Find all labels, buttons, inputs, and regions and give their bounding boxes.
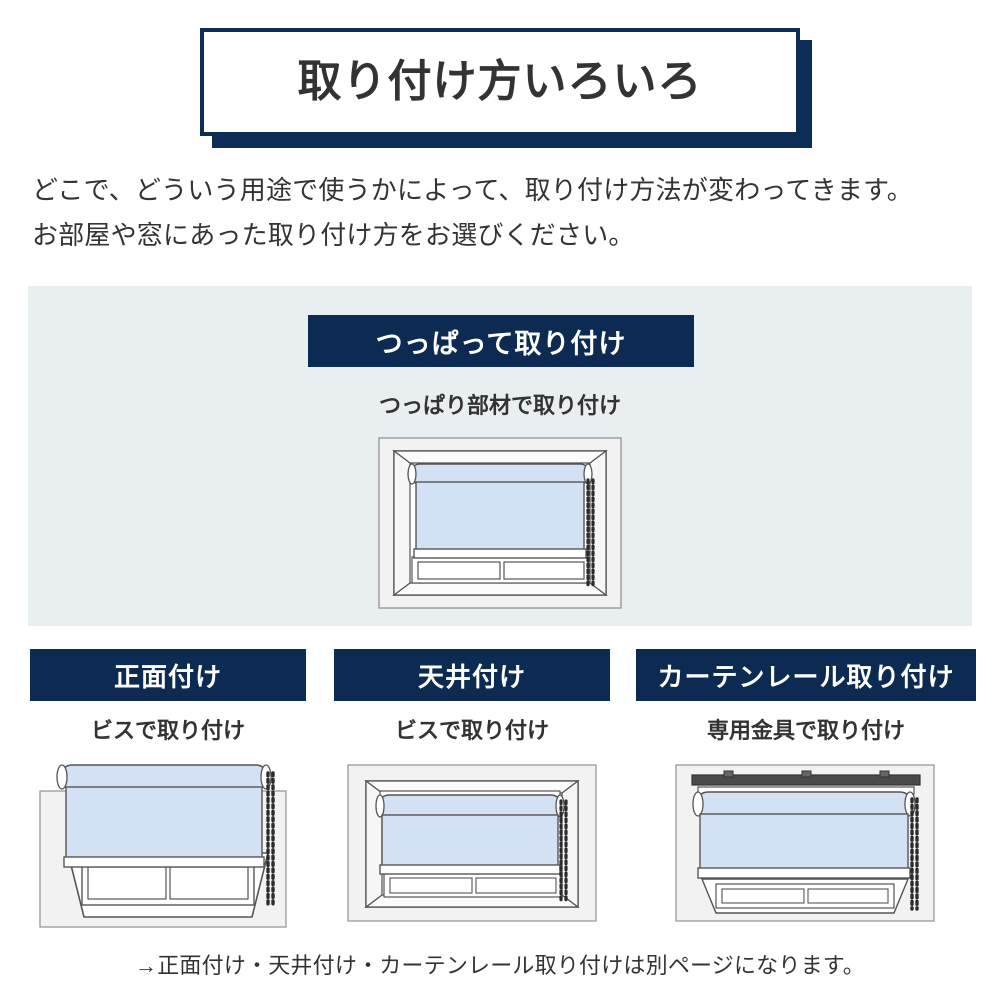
method-badge-label-ceiling-mount: 天井付け [418,657,526,694]
title-box: 取り付け方いろいろ [200,28,800,136]
tension-mount-window-illustration [378,437,622,609]
method-column-ceiling-mount: 天井付け ビスで取り付け [334,649,610,929]
page-title: 取り付け方いろいろ [298,60,703,104]
method-column-curtain-rail-mount: カーテンレール取り付け 専用金具で取り付け [636,649,976,929]
method-subtitle-face-mount: ビスで取り付け [30,713,306,745]
intro-line-1: どこで、どういう用途で使うかによって、取り付け方法が変わってきます。 [32,168,972,213]
method-column-face-mount: 正面付け ビスで取り付け [30,649,306,929]
method-subtitle-ceiling-mount: ビスで取り付け [334,713,610,745]
footer-note: →正面付け・天井付け・カーテンレール取り付けは別ページになります。 [0,948,1000,980]
intro-paragraph: どこで、どういう用途で使うかによって、取り付け方法が変わってきます。 お部屋や窓… [32,168,972,257]
page-root: 取り付け方いろいろ どこで、どういう用途で使うかによって、取り付け方法が変わって… [0,0,1000,1000]
method-badge-label-face-mount: 正面付け [114,657,222,694]
ceiling-mount-window-illustration [334,757,610,929]
curtain-rail-mount-window-illustration [636,757,976,929]
method-badge-ceiling-mount: 天井付け [334,649,610,701]
page-title-block: 取り付け方いろいろ [200,28,800,136]
method-badge-face-mount: 正面付け [30,649,306,701]
method-subtitle-curtain-rail-mount: 専用金具で取り付け [636,713,976,745]
featured-method-badge-label: つっぱって取り付け [376,322,627,361]
method-badge-label-curtain-rail-mount: カーテンレール取り付け [657,657,954,694]
featured-method-subtitle: つっぱり部材で取り付け [0,388,1000,420]
method-badge-curtain-rail-mount: カーテンレール取り付け [636,649,976,701]
featured-method-badge: つっぱって取り付け [308,315,694,367]
face-mount-window-illustration [30,757,306,929]
intro-line-2: お部屋や窓にあった取り付け方をお選びください。 [32,213,972,258]
